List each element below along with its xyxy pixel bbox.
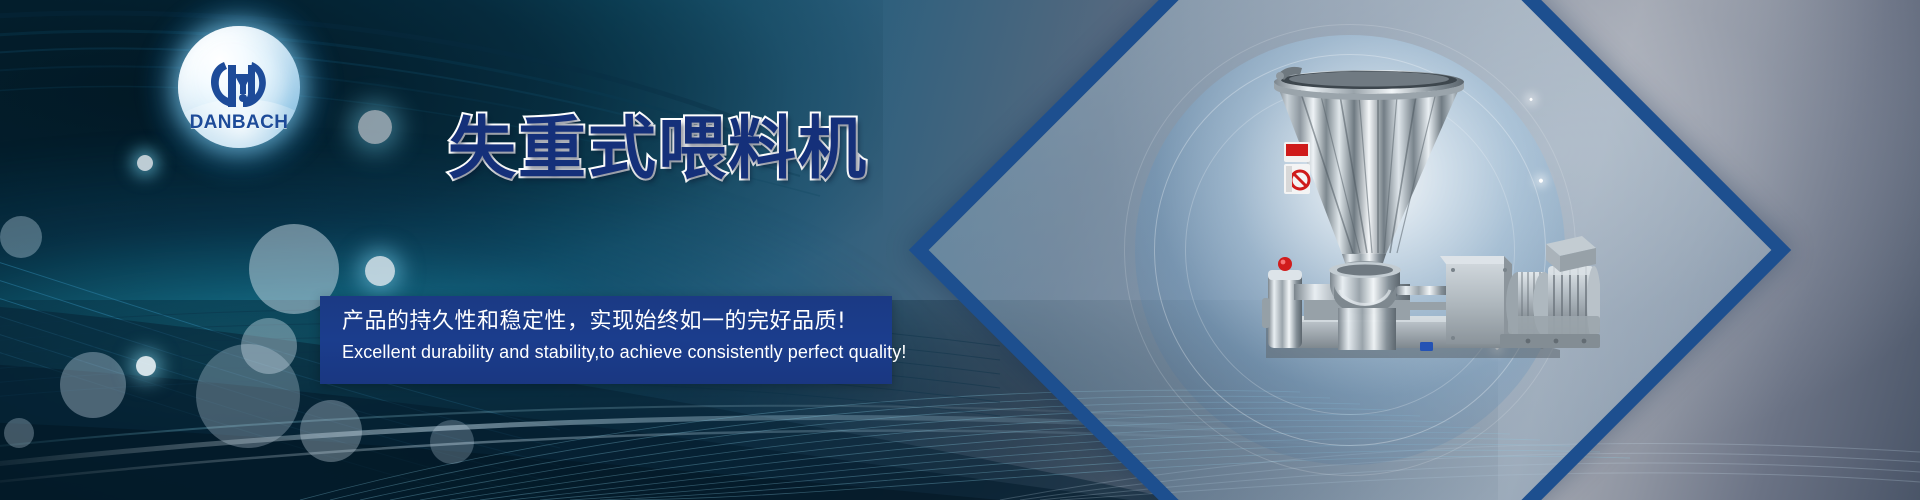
slogan-chinese: 产品的持久性和稳定性，实现始终如一的完好品质! [342,308,870,336]
danbach-monogram-icon [208,58,270,112]
slogan-box: 产品的持久性和稳定性，实现始终如一的完好品质! Excellent durabi… [320,296,892,384]
slogan-english: Excellent durability and stability,to ac… [342,342,870,363]
product-banner: DANBACH 失重式喂料机 产品的持久性和稳定性，实现始终如一的完好品质! E… [0,0,1920,500]
feeder-machine-svg [1260,58,1600,358]
product-image [1260,58,1600,358]
brand-name: DANBACH [178,112,300,134]
brand-logo[interactable]: DANBACH [178,26,300,148]
page-title: 失重式喂料机 [448,116,868,184]
